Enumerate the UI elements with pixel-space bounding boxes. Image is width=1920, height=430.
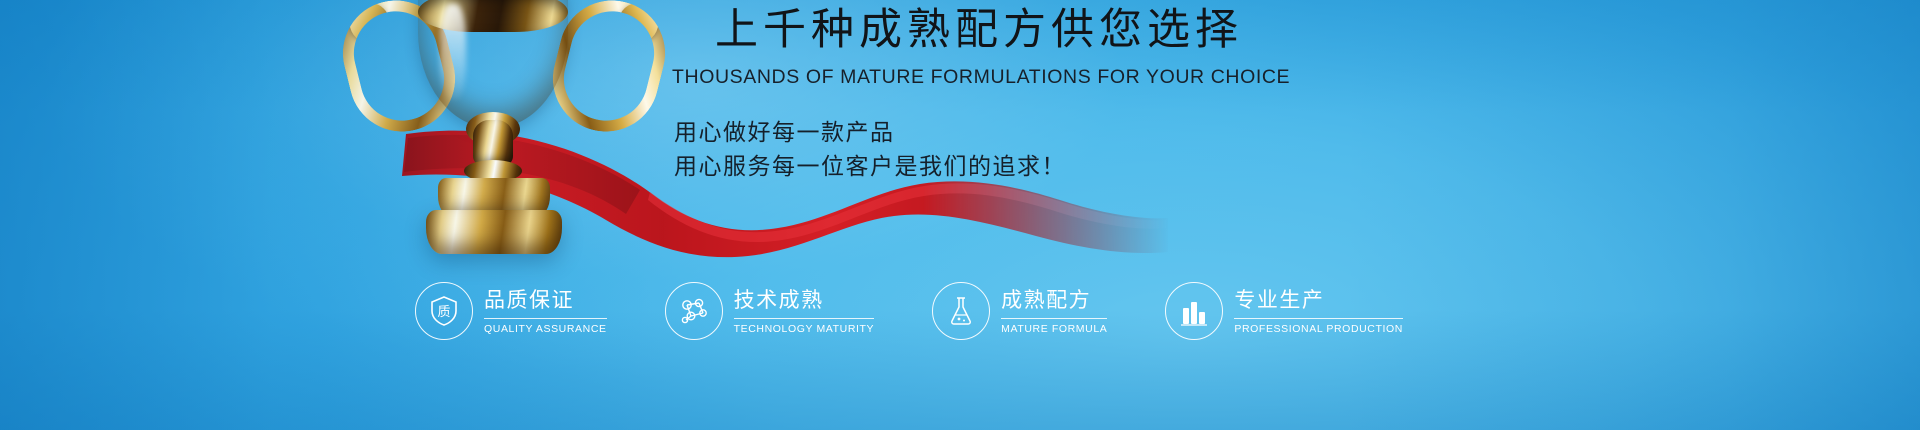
promo-banner: 上千种成熟配方供您选择 THOUSANDS OF MATURE FORMULAT… [0, 0, 1920, 430]
hero-body: 用心做好每一款产品 用心服务每一位客户是我们的追求！ [672, 115, 1292, 183]
molecule-icon [665, 282, 723, 340]
hero-text-block: 上千种成熟配方供您选择 THOUSANDS OF MATURE FORMULAT… [672, 6, 1292, 183]
subheadline: THOUSANDS OF MATURE FORMULATIONS FOR YOU… [672, 66, 1292, 89]
headline: 上千种成熟配方供您选择 [672, 6, 1292, 55]
feature-mature-formula[interactable]: 成熟配方 MATURE FORMULA [932, 282, 1107, 340]
feature-text: 成熟配方 MATURE FORMULA [1001, 287, 1107, 334]
feature-professional-production[interactable]: 专业生产 PROFESSIONAL PRODUCTION [1165, 282, 1403, 340]
flask-icon [932, 282, 990, 340]
feature-title: 技术成熟 [734, 289, 875, 312]
factory-icon [1165, 282, 1223, 340]
feature-subtitle: PROFESSIONAL PRODUCTION [1234, 318, 1403, 335]
feature-text: 专业生产 PROFESSIONAL PRODUCTION [1234, 287, 1403, 334]
feature-text: 技术成熟 TECHNOLOGY MATURITY [734, 287, 875, 334]
feature-quality-assurance[interactable]: 质 品质保证 QUALITY ASSURANCE [415, 282, 607, 340]
feature-subtitle: MATURE FORMULA [1001, 318, 1107, 335]
hero-body-line-2: 用心服务每一位客户是我们的追求！ [674, 149, 1292, 183]
feature-title: 成熟配方 [1001, 289, 1107, 312]
feature-title: 品质保证 [484, 289, 607, 312]
quality-glyph: 质 [437, 305, 450, 320]
quality-shield-icon: 质 [415, 282, 473, 340]
feature-title: 专业生产 [1234, 289, 1403, 312]
feature-badge-list: 质 品质保证 QUALITY ASSURANCE [415, 282, 1403, 340]
feature-text: 品质保证 QUALITY ASSURANCE [484, 287, 607, 334]
hero-body-line-1: 用心做好每一款产品 [674, 115, 1292, 149]
feature-technology-maturity[interactable]: 技术成熟 TECHNOLOGY MATURITY [665, 282, 875, 340]
feature-subtitle: QUALITY ASSURANCE [484, 318, 607, 335]
feature-subtitle: TECHNOLOGY MATURITY [734, 318, 875, 335]
